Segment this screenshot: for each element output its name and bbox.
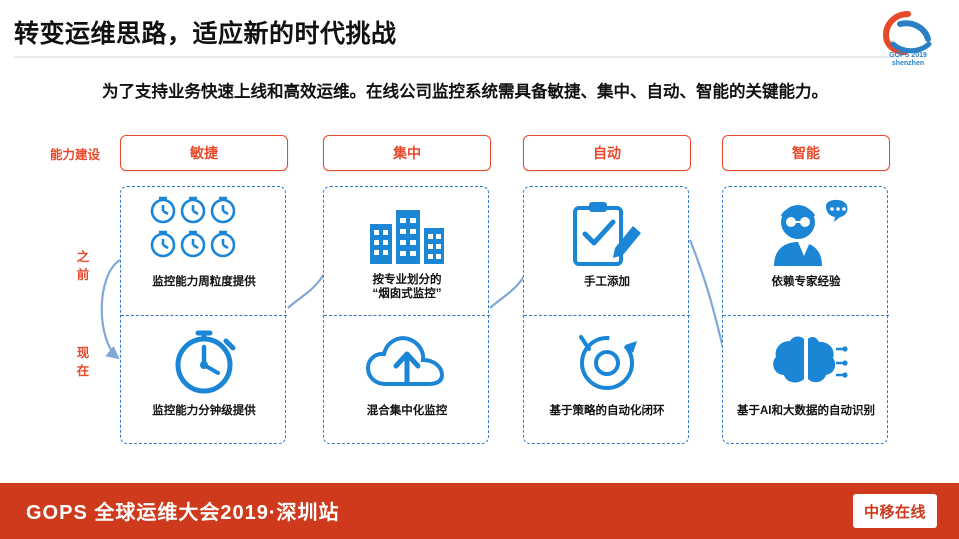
closed-loop-icon xyxy=(567,322,647,404)
column-3-before-caption: 手工添加 xyxy=(578,275,636,289)
title-divider xyxy=(14,56,899,58)
column-2: 按专业划分的“烟囱式监控” 混合集中化监控 xyxy=(323,186,489,444)
sponsor-badge: 中移在线 xyxy=(853,494,937,528)
column-3: 手工添加 基于策略的自动化闭环 xyxy=(523,186,689,444)
column-2-before-caption: 按专业划分的“烟囱式监控” xyxy=(367,273,448,302)
stopwatch-grid-icon xyxy=(145,193,263,275)
row-label-before: 之前 xyxy=(48,248,118,284)
logo-line-1: GOPS 2019 xyxy=(875,52,941,60)
clipboard-pencil-icon xyxy=(565,193,649,275)
logo-line-2: shenzhen xyxy=(875,60,941,68)
page-subtitle: 为了支持业务快速上线和高效运维。在线公司监控系统需具备敏捷、集中、自动、智能的关… xyxy=(0,78,930,102)
column-4-now-caption: 基于AI和大数据的自动识别 xyxy=(731,404,881,418)
column-2-before-cell: 按专业划分的“烟囱式监控” xyxy=(324,187,490,315)
column-1-now-caption: 监控能力分钟级提供 xyxy=(146,404,262,418)
ai-brain-icon xyxy=(764,322,848,404)
column-1: 监控能力周粒度提供 监控能力分钟级提供 xyxy=(120,186,286,444)
footer-title: GOPS 全球运维大会2019·深圳站 xyxy=(26,496,340,525)
footer-bar: GOPS 全球运维大会2019·深圳站 中移在线 xyxy=(0,483,959,539)
column-4-before-caption: 依赖专家经验 xyxy=(766,275,847,289)
column-4: 依赖专家经验 基于AI和大数据的自动识别 xyxy=(722,186,888,444)
column-3-now-cell: 基于策略的自动化闭环 xyxy=(524,316,690,444)
column-2-now-caption: 混合集中化监控 xyxy=(361,404,454,418)
column-header-3[interactable]: 自动 xyxy=(523,135,691,171)
buildings-icon xyxy=(364,193,450,275)
column-1-before-caption: 监控能力周粒度提供 xyxy=(146,275,262,289)
sponsor-badge-text: 中移在线 xyxy=(864,501,926,522)
column-2-now-cell: 混合集中化监控 xyxy=(324,316,490,444)
slide-root: 转变运维思路，适应新的时代挑战 GOPS 2019 shenzhen 为了支持业… xyxy=(0,0,959,539)
column-1-now-cell: 监控能力分钟级提供 xyxy=(121,316,287,444)
cloud-upload-icon xyxy=(362,322,452,404)
row-label-capability: 能力建设 xyxy=(40,144,110,163)
column-header-4[interactable]: 智能 xyxy=(722,135,890,171)
column-1-before-cell: 监控能力周粒度提供 xyxy=(121,187,287,315)
row-label-now: 现在 xyxy=(48,344,118,380)
page-title: 转变运维思路，适应新的时代挑战 xyxy=(14,14,397,50)
column-4-before-cell: 依赖专家经验 xyxy=(723,187,889,315)
expert-person-icon xyxy=(760,193,852,275)
column-3-now-caption: 基于策略的自动化闭环 xyxy=(544,404,671,418)
column-4-now-cell: 基于AI和大数据的自动识别 xyxy=(723,316,889,444)
column-3-before-cell: 手工添加 xyxy=(524,187,690,315)
column-header-2[interactable]: 集中 xyxy=(323,135,491,171)
speedometer-icon xyxy=(164,322,244,404)
gops-logo-text: GOPS 2019 shenzhen xyxy=(875,52,941,69)
column-header-1[interactable]: 敏捷 xyxy=(120,135,288,171)
